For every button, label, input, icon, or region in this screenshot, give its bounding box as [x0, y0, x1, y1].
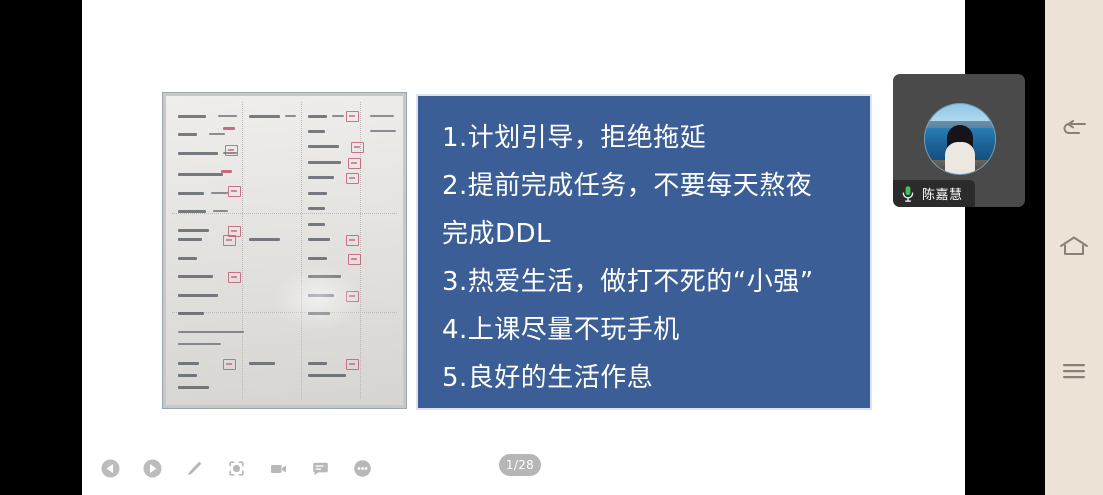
avatar — [924, 103, 996, 175]
bullet-line-5: 5.良好的生活作息 — [442, 354, 854, 402]
chevron-left-circle-icon — [101, 459, 120, 478]
chevron-right-circle-icon — [143, 459, 162, 478]
bullet-slide-panel: 1.计划引导，拒绝拖延 2.提前完成任务，不要每天熬夜 完成DDL 3.热爱生活… — [416, 94, 872, 410]
recent-apps-icon — [1060, 361, 1088, 381]
system-navigation-bar — [1045, 0, 1103, 495]
pencil-icon — [185, 459, 204, 478]
home-icon — [1059, 235, 1089, 259]
laser-pointer-button[interactable] — [226, 458, 246, 478]
screen-root: 1.计划引导，拒绝拖延 2.提前完成任务，不要每天熬夜 完成DDL 3.热爱生活… — [0, 0, 1103, 495]
notes-paper-surface — [166, 96, 403, 405]
nav-recent-button[interactable] — [1057, 354, 1091, 388]
more-button[interactable] — [352, 458, 372, 478]
participant-name-bar: 陈嘉慧 — [893, 180, 975, 207]
bullet-line-1: 1.计划引导，拒绝拖延 — [442, 114, 854, 162]
nav-home-button[interactable] — [1057, 230, 1091, 264]
more-dots-icon — [353, 459, 372, 478]
bullet-line-4: 4.上课尽量不玩手机 — [442, 306, 854, 354]
annotate-button[interactable] — [184, 458, 204, 478]
video-button[interactable] — [268, 458, 288, 478]
handwritten-notes-photo — [162, 92, 407, 409]
microphone-icon — [901, 185, 915, 203]
previous-slide-button[interactable] — [100, 458, 120, 478]
bullet-line-2-continued: 完成DDL — [442, 210, 854, 258]
bullet-line-2: 2.提前完成任务，不要每天熬夜 — [442, 162, 854, 210]
video-camera-icon — [269, 459, 288, 478]
participant-name: 陈嘉慧 — [922, 184, 963, 203]
chat-button[interactable] — [310, 458, 330, 478]
next-slide-button[interactable] — [142, 458, 162, 478]
laser-pointer-icon — [227, 459, 246, 478]
presentation-stage: 1.计划引导，拒绝拖延 2.提前完成任务，不要每天熬夜 完成DDL 3.热爱生活… — [82, 0, 965, 495]
presentation-toolbar — [100, 455, 372, 481]
nav-back-button[interactable] — [1057, 114, 1091, 148]
back-arrow-icon — [1060, 120, 1088, 142]
bullet-line-3: 3.热爱生活，做打不死的“小强” — [442, 258, 854, 306]
chat-bubble-icon — [311, 459, 330, 478]
page-indicator: 1/28 — [499, 454, 541, 476]
participant-video-tile[interactable]: 陈嘉慧 — [893, 74, 1025, 207]
